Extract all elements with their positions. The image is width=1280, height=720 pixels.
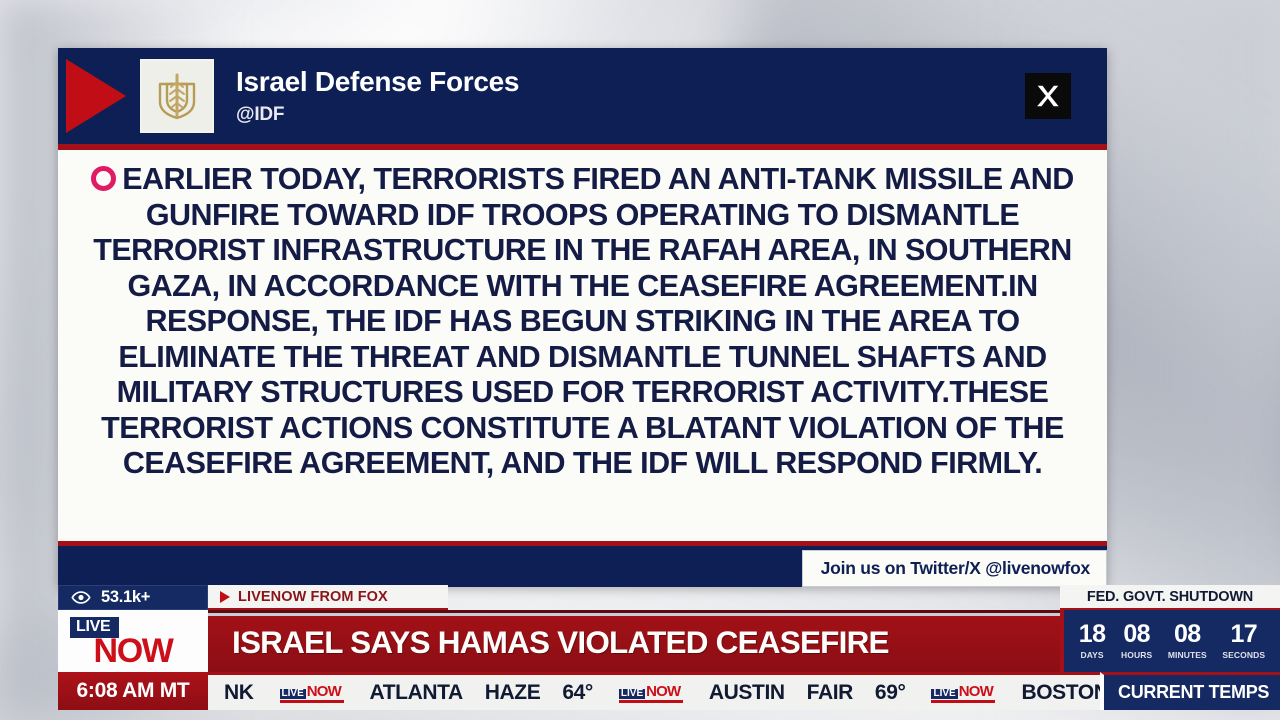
clock-text: 6:08 AM MT [77,679,190,703]
lower-third-row-top: 53.1k+ LIVENOW FROM FOX [58,585,448,610]
ticker-temperature: 64° [562,681,593,705]
lower-third: 53.1k+ LIVENOW FROM FOX LIVE NOW ISRAEL … [0,585,1280,720]
ticker-item: ATLANTA HAZE 64° [354,681,609,705]
viewer-count-badge: 53.1k+ [58,585,208,610]
countdown-timer: 18 DAYS 08 HOURS 08 MINUTES 17 SECONDS [1060,610,1280,672]
source-badge: LIVENOW FROM FOX [208,585,448,610]
play-triangle-icon [66,59,126,133]
tweet-account-block: Israel Defense Forces @IDF [236,66,519,125]
ticker-item: NK [208,681,270,705]
ticker-item: AUSTIN FAIR 69° [693,681,922,705]
eye-icon [71,591,91,604]
current-temps-label: CURRENT TEMPS [1118,682,1269,703]
join-prompt-bar: Join us on Twitter/X @livenowfox [802,550,1107,587]
countdown-seconds-label: SECONDS [1222,651,1265,660]
countdown-days-label: DAYS [1080,651,1103,660]
idf-emblem-icon [147,66,207,126]
mini-logo-live: LIVE [619,689,645,699]
livenow-mini-logo-icon: LIVENOW [619,682,683,703]
mini-logo-now: NOW [959,684,993,699]
tweet-graphic-card: Israel Defense Forces @IDF EARLIER TODAY… [58,48,1107,587]
countdown-days-value: 18 [1079,622,1106,647]
play-triangle-icon [220,591,230,603]
countdown-minutes-label: MINUTES [1168,651,1207,660]
mini-logo-live: LIVE [931,689,957,699]
ticker-city: ATLANTA [370,681,463,705]
lower-third-row-ticker: 6:08 AM MT NK LIVENOW ATLANTA HAZE 64° L… [0,672,1280,710]
shutdown-title-bar: FED. GOVT. SHUTDOWN [1060,585,1280,610]
livenow-mini-logo-icon: LIVENOW [280,682,344,703]
weather-ticker: NK LIVENOW ATLANTA HAZE 64° LIVENOW AUST… [208,672,1100,710]
x-logo-glyph [1035,83,1061,109]
source-label: LIVENOW FROM FOX [238,589,388,605]
livenow-mini-logo-icon: LIVENOW [931,682,995,703]
logo-now-text: NOW [94,637,173,667]
headline-text: ISRAEL SAYS HAMAS VIOLATED CEASEFIRE [208,624,889,661]
join-prompt-text: Join us on Twitter/X @livenowfox [821,558,1090,579]
shutdown-title-text: FED. GOVT. SHUTDOWN [1087,589,1253,605]
headline-banner: ISRAEL SAYS HAMAS VIOLATED CEASEFIRE [208,610,1060,672]
ticker-item: BOSTON [1005,681,1100,705]
shutdown-countdown-module: FED. GOVT. SHUTDOWN 18 DAYS 08 HOURS 08 … [1060,585,1280,672]
mini-logo-live: LIVE [280,689,306,699]
countdown-hours-value: 08 [1123,622,1150,647]
ticker-city: AUSTIN [709,681,785,705]
tweet-text: EARLIER TODAY, TERRORISTS FIRED AN ANTI-… [93,162,1074,480]
countdown-hours-label: HOURS [1121,651,1152,660]
ticker-condition: FAIR [807,681,853,705]
tweet-body: EARLIER TODAY, TERRORISTS FIRED AN ANTI-… [58,144,1107,541]
countdown-unit-seconds: 17 SECONDS [1222,622,1265,660]
ticker-city: BOSTON [1021,681,1100,705]
ticker-temperature: 69° [875,681,906,705]
clock-badge: 6:08 AM MT [58,672,208,710]
ticker-city: NK [224,681,254,705]
tweet-header: Israel Defense Forces @IDF [58,48,1107,144]
tweet-text-block: EARLIER TODAY, TERRORISTS FIRED AN ANTI-… [84,162,1081,482]
ticker-condition: HAZE [485,681,541,705]
tweet-footer: Join us on Twitter/X @livenowfox [58,541,1107,587]
mini-logo-now: NOW [646,684,680,699]
account-name: Israel Defense Forces [236,66,519,98]
countdown-unit-days: 18 DAYS [1079,622,1106,660]
network-logo: LIVE NOW [58,610,208,672]
lower-third-row-headline: LIVE NOW ISRAEL SAYS HAMAS VIOLATED CEAS… [0,610,1280,672]
x-logo-icon [1025,73,1071,119]
current-temps-badge: CURRENT TEMPS [1100,672,1280,710]
account-handle: @IDF [236,104,519,126]
viewer-count: 53.1k+ [101,588,150,607]
countdown-unit-hours: 08 HOURS [1121,622,1152,660]
avatar [140,59,214,133]
red-circle-alert-icon [91,166,116,191]
countdown-minutes-value: 08 [1174,622,1201,647]
countdown-seconds-value: 17 [1230,622,1257,647]
mini-logo-now: NOW [307,684,341,699]
countdown-unit-minutes: 08 MINUTES [1168,622,1207,660]
